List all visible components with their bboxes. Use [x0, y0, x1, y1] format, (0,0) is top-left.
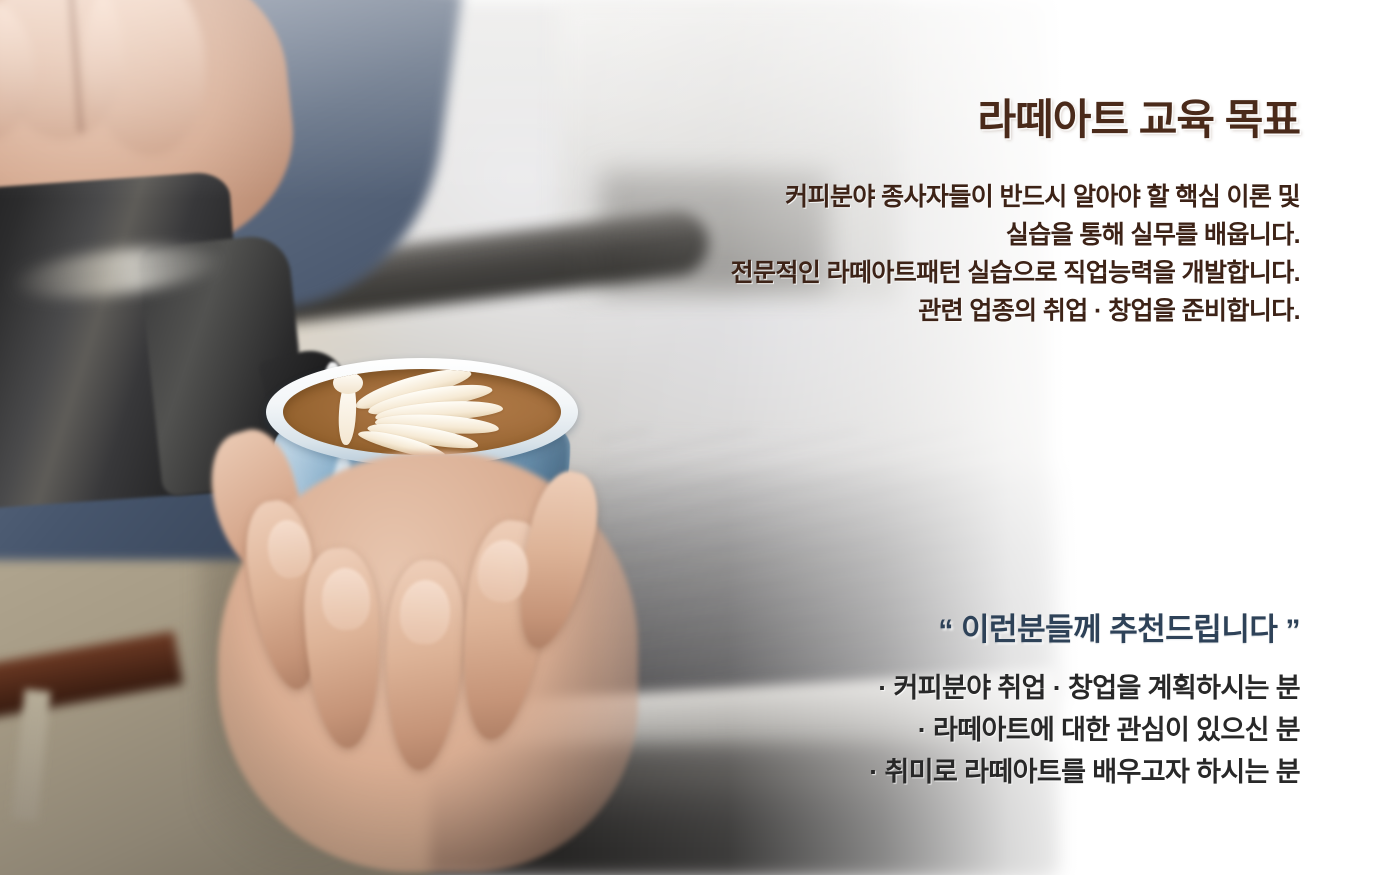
recommendation-item: · 커피분야 취업 · 창업을 계획하시는 분: [869, 667, 1300, 709]
quote-open-mark: “: [938, 614, 953, 647]
education-goal-title: 라떼아트 교육 목표: [978, 86, 1300, 147]
text-overlay: 라떼아트 교육 목표 커피분야 종사자들이 반드시 알아야 할 핵심 이론 및 …: [0, 0, 1400, 875]
recommendation-item: · 라떼아트에 대한 관심이 있으신 분: [869, 709, 1300, 751]
recommendation-title-text: 이런분들께 추천드립니다: [961, 612, 1277, 647]
goal-line: 전문적인 라떼아트패턴 실습으로 직업능력을 개발합니다.: [731, 254, 1300, 292]
recommendation-item: · 취미로 라떼아트를 배우고자 하시는 분: [869, 751, 1300, 793]
recommendation-list: · 커피분야 취업 · 창업을 계획하시는 분 · 라떼아트에 대한 관심이 있…: [869, 667, 1300, 793]
goal-line: 관련 업종의 취업 · 창업을 준비합니다.: [731, 292, 1300, 330]
quote-close-mark: ”: [1286, 614, 1301, 647]
goal-line: 실습을 통해 실무를 배웁니다.: [731, 216, 1300, 254]
education-goal-body: 커피분야 종사자들이 반드시 알아야 할 핵심 이론 및 실습을 통해 실무를 …: [731, 178, 1300, 330]
latte-art-promo-banner: 라떼아트 교육 목표 커피분야 종사자들이 반드시 알아야 할 핵심 이론 및 …: [0, 0, 1400, 875]
goal-line: 커피분야 종사자들이 반드시 알아야 할 핵심 이론 및: [731, 178, 1300, 216]
recommendation-title: “ 이런분들께 추천드립니다 ”: [938, 604, 1300, 649]
